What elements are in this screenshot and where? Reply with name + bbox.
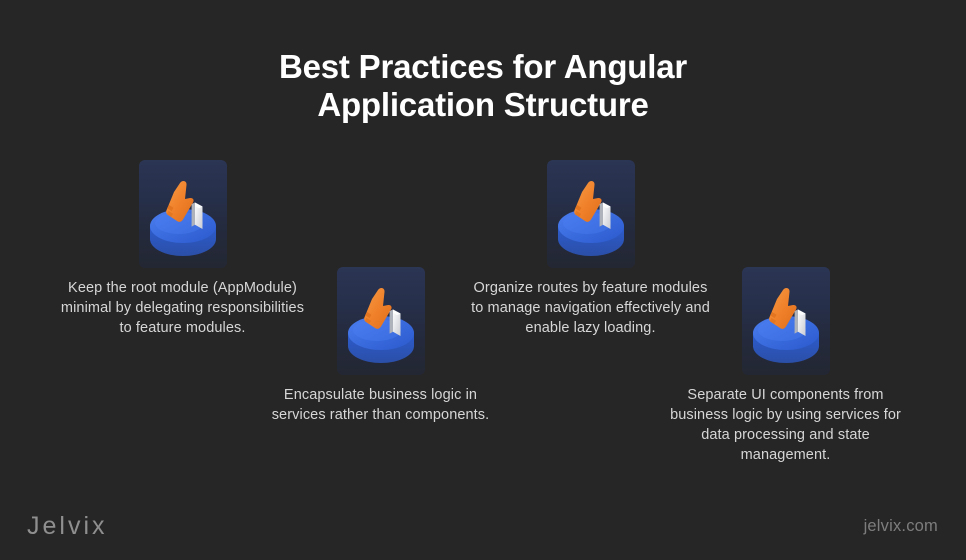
- page-title: Best Practices for Angular Application S…: [0, 48, 966, 124]
- thumbs-up-3d-icon: [742, 267, 830, 375]
- jelvix-logo: Jelvix: [27, 512, 108, 540]
- practice-caption: Encapsulate business logic in services r…: [268, 385, 493, 425]
- practice-item: Encapsulate business logic in services r…: [268, 267, 493, 425]
- practice-icon-container: [60, 160, 305, 268]
- practice-item: Separate UI components from business log…: [663, 267, 908, 465]
- thumbs-up-3d-icon: [139, 160, 227, 268]
- thumbs-up-3d-icon: [337, 267, 425, 375]
- practice-icon-container: [468, 160, 713, 268]
- page-title-line-1: Best Practices for Angular: [0, 48, 966, 86]
- practice-icon-container: [268, 267, 493, 375]
- page-title-line-2: Application Structure: [0, 86, 966, 124]
- practice-icon-container: [663, 267, 908, 375]
- thumbs-up-3d-icon: [547, 160, 635, 268]
- website-url: jelvix.com: [864, 516, 938, 536]
- practice-caption: Separate UI components from business log…: [663, 385, 908, 465]
